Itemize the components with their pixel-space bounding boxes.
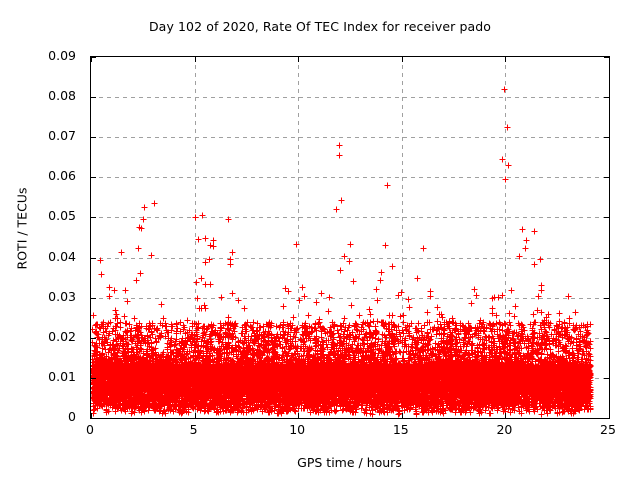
x-tick-mark bbox=[298, 413, 299, 418]
y-tick-label: 0 bbox=[0, 411, 84, 423]
x-tick-mark bbox=[505, 57, 506, 62]
x-tick-mark bbox=[402, 413, 403, 418]
x-tick-mark bbox=[91, 413, 92, 418]
y-tick-mark bbox=[91, 137, 96, 138]
scatter-series-roti bbox=[91, 57, 609, 418]
x-tick-label: 0 bbox=[70, 423, 110, 437]
y-tick-mark bbox=[91, 177, 96, 178]
x-axis-tick-labels: 0510152025 bbox=[90, 423, 609, 443]
y-tick-mark bbox=[604, 137, 609, 138]
x-tick-label: 15 bbox=[381, 423, 421, 437]
y-tick-label: 0.03 bbox=[0, 291, 84, 303]
x-tick-label: 10 bbox=[277, 423, 317, 437]
x-tick-mark bbox=[609, 57, 610, 62]
x-tick-mark bbox=[402, 57, 403, 62]
x-tick-mark bbox=[91, 57, 92, 62]
y-tick-mark bbox=[604, 338, 609, 339]
y-tick-mark bbox=[91, 217, 96, 218]
y-axis-label: ROTI / TECUs bbox=[15, 149, 30, 309]
y-tick-label: 0.05 bbox=[0, 210, 84, 222]
chart-figure: Day 102 of 2020, Rate Of TEC Index for r… bbox=[0, 0, 640, 480]
y-tick-mark bbox=[91, 258, 96, 259]
y-tick-mark bbox=[604, 298, 609, 299]
y-tick-mark bbox=[91, 338, 96, 339]
y-tick-label: 0.04 bbox=[0, 251, 84, 263]
y-tick-label: 0.07 bbox=[0, 130, 84, 142]
y-tick-label: 0.06 bbox=[0, 170, 84, 182]
x-tick-mark bbox=[505, 413, 506, 418]
y-tick-label: 0.08 bbox=[0, 90, 84, 102]
x-tick-mark bbox=[195, 413, 196, 418]
x-tick-mark bbox=[609, 413, 610, 418]
y-tick-mark bbox=[604, 177, 609, 178]
y-tick-label: 0.09 bbox=[0, 50, 84, 62]
x-tick-label: 5 bbox=[174, 423, 214, 437]
y-axis-tick-labels: 00.010.020.030.040.050.060.070.080.09 bbox=[0, 56, 84, 418]
y-tick-mark bbox=[91, 298, 96, 299]
y-tick-mark bbox=[91, 418, 96, 419]
y-tick-mark bbox=[604, 217, 609, 218]
x-tick-label: 25 bbox=[588, 423, 628, 437]
scatter-markers bbox=[91, 87, 594, 418]
y-tick-mark bbox=[604, 97, 609, 98]
chart-title: Day 102 of 2020, Rate Of TEC Index for r… bbox=[0, 19, 640, 34]
y-tick-mark bbox=[91, 97, 96, 98]
y-tick-mark bbox=[91, 378, 96, 379]
y-tick-mark bbox=[604, 418, 609, 419]
y-tick-mark bbox=[604, 258, 609, 259]
y-tick-label: 0.01 bbox=[0, 371, 84, 383]
x-axis-label: GPS time / hours bbox=[90, 455, 609, 470]
plot-area bbox=[90, 56, 610, 419]
x-tick-mark bbox=[298, 57, 299, 62]
y-tick-mark bbox=[604, 378, 609, 379]
x-tick-mark bbox=[195, 57, 196, 62]
x-tick-label: 20 bbox=[484, 423, 524, 437]
y-tick-label: 0.02 bbox=[0, 331, 84, 343]
